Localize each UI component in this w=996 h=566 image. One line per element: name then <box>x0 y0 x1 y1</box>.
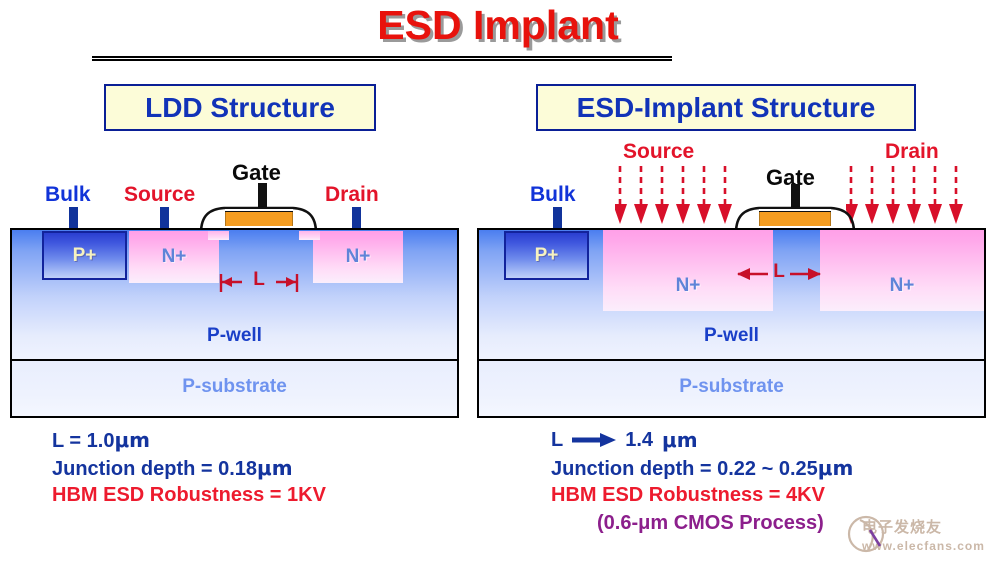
esd-caption-line-2-unit: μm <box>818 456 854 480</box>
ldd-psubstrate-region: P-substrate <box>10 361 459 418</box>
esd-caption-line-2-text: Junction depth = 0.22 ~ 0.25 <box>551 458 818 480</box>
ldd-pplus-label: P+ <box>73 245 97 267</box>
esd-psubstrate-region: P-substrate <box>477 361 986 418</box>
esd-caption-line-3: HBM ESD Robustness = 4KV <box>551 484 825 507</box>
esd-drain-label: Drain <box>885 140 939 164</box>
ldd-nplus-drain-label: N+ <box>346 246 371 268</box>
ldd-drain-extension-tip <box>299 231 320 240</box>
panel-header-esd-implant: ESD-Implant Structure <box>536 84 916 131</box>
ldd-bulk-label: Bulk <box>45 183 91 207</box>
ldd-gate-label: Gate <box>232 160 281 186</box>
esd-caption-line-1-prefix: L <box>551 429 563 452</box>
title-underline-rule <box>92 56 672 61</box>
watermark-logo-icon <box>846 512 892 558</box>
esd-bulk-label: Bulk <box>530 183 576 207</box>
esd-nplus-source-label: N+ <box>676 275 701 297</box>
esd-caption-line-4: (0.6-μm CMOS Process) <box>597 512 824 535</box>
ldd-nplus-drain-region: N+ <box>313 231 403 283</box>
ldd-pplus-region: P+ <box>42 231 127 280</box>
esd-cross-section: P-well P+ N+ N+ L <box>477 228 986 418</box>
ldd-caption-line-1-unit: μm <box>114 428 150 452</box>
ldd-pwell-region: P-well P+ N+ N+ <box>10 228 459 361</box>
esd-gate-polysilicon <box>759 212 831 226</box>
ldd-caption-line-2-unit: μm <box>257 456 293 480</box>
esd-source-implant-arrow-group <box>615 166 733 226</box>
esd-drain-implant-arrow-group <box>846 166 964 226</box>
ldd-pwell-label: P-well <box>12 325 457 347</box>
esd-source-label: Source <box>623 140 694 164</box>
esd-caption-right-arrow-icon <box>572 433 616 447</box>
ldd-gate-polysilicon <box>225 212 293 226</box>
ldd-caption-line-3: HBM ESD Robustness = 1KV <box>52 484 326 507</box>
esd-drain-implant-arrows <box>846 166 964 226</box>
ldd-caption-line-1: L = 1.0μm <box>52 428 150 453</box>
esd-source-implant-arrows <box>615 166 733 226</box>
ldd-cross-section: P-well P+ N+ N+ <box>10 228 459 418</box>
esd-pplus-region: P+ <box>504 231 589 280</box>
ldd-channel-length-dimension: L <box>219 272 299 294</box>
ldd-source-label: Source <box>124 183 195 207</box>
ldd-nplus-source-region: N+ <box>129 231 219 283</box>
ldd-caption-line-2-text: Junction depth = 0.18 <box>52 458 257 480</box>
slide-canvas: ESD Implant LDD Structure ESD-Implant St… <box>0 0 996 566</box>
ldd-drain-label: Drain <box>325 183 379 207</box>
esd-caption-line-1: L 1.4μm <box>551 428 698 452</box>
ldd-source-extension-tip <box>208 231 229 240</box>
esd-caption-line-1-value: 1.4 <box>625 429 653 452</box>
watermark: 电子发烧友 www.elecfans.com <box>862 516 985 553</box>
esd-pwell-region: P-well P+ N+ N+ L <box>477 228 986 361</box>
panel-header-esd-implant-label: ESD-Implant Structure <box>577 92 876 124</box>
esd-dimension-label: L <box>773 261 785 283</box>
panel-header-ldd: LDD Structure <box>104 84 376 131</box>
page-title: ESD Implant <box>0 2 996 49</box>
ldd-caption-line-1-text: L = 1.0 <box>52 430 114 452</box>
watermark-cn-text: 电子发烧友 <box>862 516 985 537</box>
esd-nplus-drain-region: N+ <box>820 229 984 311</box>
esd-pwell-label: P-well <box>479 325 984 347</box>
panel-header-ldd-label: LDD Structure <box>145 92 335 124</box>
esd-psubstrate-label: P-substrate <box>479 376 984 398</box>
ldd-nplus-source-label: N+ <box>162 246 187 268</box>
ldd-psubstrate-label: P-substrate <box>12 376 457 398</box>
esd-caption-line-2: Junction depth = 0.22 ~ 0.25μm <box>551 456 853 481</box>
ldd-dimension-label: L <box>253 269 265 291</box>
watermark-url-text: www.elecfans.com <box>862 539 985 553</box>
esd-pplus-label: P+ <box>535 245 559 267</box>
esd-nplus-drain-label: N+ <box>890 275 915 297</box>
ldd-caption-line-2: Junction depth = 0.18μm <box>52 456 293 481</box>
esd-channel-length-dimension: L <box>735 264 823 286</box>
esd-caption-line-1-unit: μm <box>662 428 698 452</box>
